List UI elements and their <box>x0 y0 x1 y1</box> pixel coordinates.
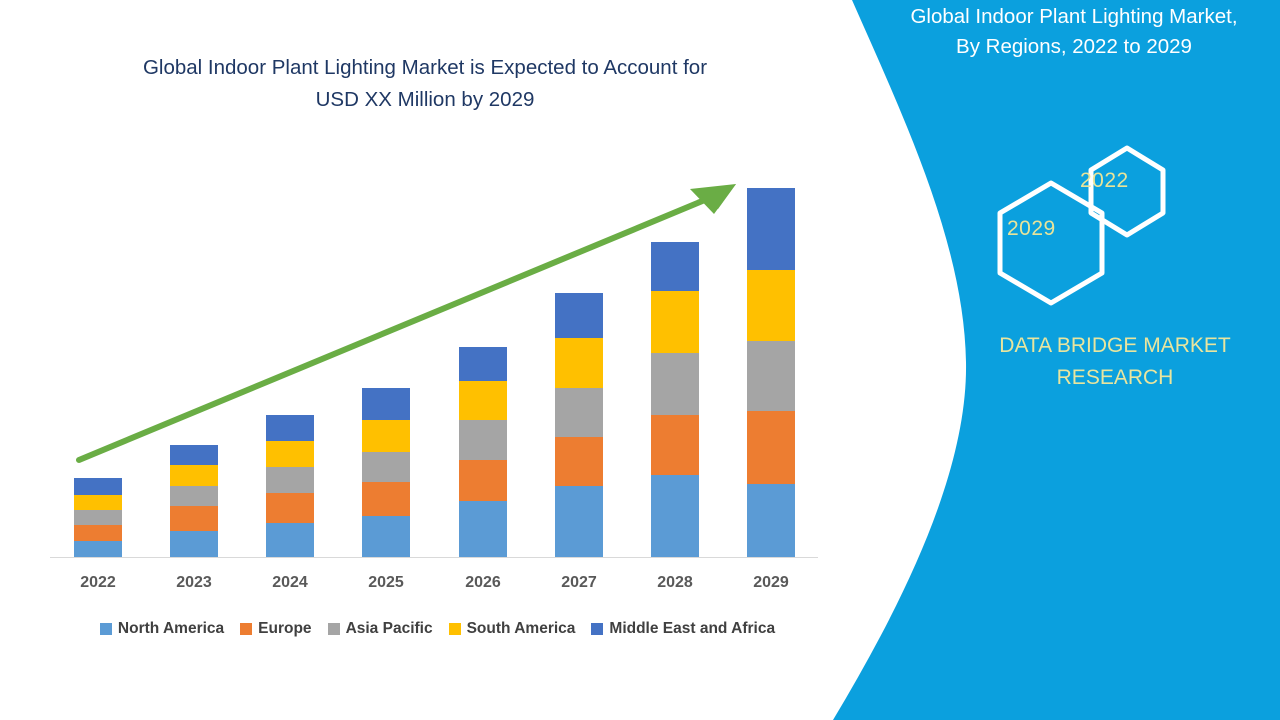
bar-segment-asia-pacific-2027[interactable] <box>555 388 603 437</box>
hex-badges: 2022 2029 <box>985 145 1175 290</box>
legend-label: South America <box>467 620 576 638</box>
bar-segment-asia-pacific-2029[interactable] <box>747 341 795 410</box>
bar-segment-europe-2029[interactable] <box>747 411 795 484</box>
bar-2026[interactable] <box>459 347 507 557</box>
bar-2027[interactable] <box>555 293 603 557</box>
bar-segment-north-america-2024[interactable] <box>266 523 314 557</box>
bar-segment-south-america-2026[interactable] <box>459 381 507 420</box>
bar-2024[interactable] <box>266 415 314 558</box>
bar-segment-asia-pacific-2028[interactable] <box>651 353 699 415</box>
bar-segment-middle-east-and-africa-2027[interactable] <box>555 293 603 338</box>
x-axis-label-2025: 2025 <box>346 574 426 592</box>
legend-swatch-icon <box>449 623 461 635</box>
bar-2022[interactable] <box>74 478 122 557</box>
panel-title-line-1: Global Indoor Plant Lighting Market, <box>868 2 1280 32</box>
bar-segment-south-america-2025[interactable] <box>362 420 410 452</box>
bar-2025[interactable] <box>362 388 410 557</box>
x-axis-label-2028: 2028 <box>635 574 715 592</box>
brand-name-line-1: DATA BRIDGE MARKET <box>960 330 1270 362</box>
legend-item-europe[interactable]: Europe <box>240 620 311 638</box>
x-axis-label-2026: 2026 <box>443 574 523 592</box>
chart-legend: North AmericaEuropeAsia PacificSouth Ame… <box>50 617 825 641</box>
bar-segment-north-america-2023[interactable] <box>170 531 218 557</box>
bar-segment-south-america-2029[interactable] <box>747 270 795 341</box>
bar-segment-north-america-2025[interactable] <box>362 516 410 557</box>
bar-segment-south-america-2028[interactable] <box>651 291 699 353</box>
bar-segment-north-america-2026[interactable] <box>459 501 507 557</box>
bar-2023[interactable] <box>170 445 218 558</box>
bar-segment-middle-east-and-africa-2022[interactable] <box>74 478 122 495</box>
legend-item-south-america[interactable]: South America <box>449 620 576 638</box>
brand-name-line-2: RESEARCH <box>960 362 1270 394</box>
hex-badge-2022-label: 2022 <box>1080 169 1129 193</box>
bar-segment-north-america-2027[interactable] <box>555 486 603 557</box>
legend-swatch-icon <box>328 623 340 635</box>
bar-segment-south-america-2027[interactable] <box>555 338 603 389</box>
bar-segment-europe-2027[interactable] <box>555 437 603 486</box>
legend-swatch-icon <box>240 623 252 635</box>
infographic-canvas: Global Indoor Plant Lighting Market is E… <box>0 0 1280 720</box>
x-axis-label-2022: 2022 <box>58 574 138 592</box>
hex-badge-2029-label: 2029 <box>1007 217 1056 241</box>
bar-segment-europe-2024[interactable] <box>266 493 314 523</box>
legend-item-asia-pacific[interactable]: Asia Pacific <box>328 620 433 638</box>
x-axis-line <box>50 557 818 558</box>
x-axis-label-2023: 2023 <box>154 574 234 592</box>
legend-label: Europe <box>258 620 311 638</box>
bar-segment-middle-east-and-africa-2024[interactable] <box>266 415 314 441</box>
bar-segment-south-america-2022[interactable] <box>74 495 122 510</box>
growth-arrow-icon <box>0 0 840 600</box>
x-axis-label-2024: 2024 <box>250 574 330 592</box>
legend-label: Middle East and Africa <box>609 620 775 638</box>
legend-item-middle-east-and-africa[interactable]: Middle East and Africa <box>591 620 775 638</box>
bar-segment-europe-2025[interactable] <box>362 482 410 516</box>
bar-segment-south-america-2023[interactable] <box>170 465 218 486</box>
bar-segment-europe-2023[interactable] <box>170 506 218 530</box>
bar-segment-asia-pacific-2023[interactable] <box>170 486 218 507</box>
bar-segment-europe-2026[interactable] <box>459 460 507 501</box>
legend-item-north-america[interactable]: North America <box>100 620 224 638</box>
bar-segment-middle-east-and-africa-2026[interactable] <box>459 347 507 381</box>
bar-segment-europe-2022[interactable] <box>74 525 122 541</box>
x-axis-label-2029: 2029 <box>731 574 811 592</box>
x-axis-labels: 20222023202420252026202720282029 <box>0 574 840 600</box>
bar-segment-north-america-2029[interactable] <box>747 484 795 557</box>
bar-segment-north-america-2028[interactable] <box>651 475 699 558</box>
bar-segment-europe-2028[interactable] <box>651 415 699 475</box>
bar-segment-south-america-2024[interactable] <box>266 441 314 467</box>
legend-label: North America <box>118 620 224 638</box>
bar-2028[interactable] <box>651 242 699 557</box>
legend-label: Asia Pacific <box>346 620 433 638</box>
bar-2029[interactable] <box>747 188 795 557</box>
bar-segment-middle-east-and-africa-2023[interactable] <box>170 445 218 466</box>
stacked-bar-chart <box>0 0 840 600</box>
bar-segment-asia-pacific-2024[interactable] <box>266 467 314 493</box>
bar-segment-asia-pacific-2026[interactable] <box>459 420 507 459</box>
legend-swatch-icon <box>591 623 603 635</box>
brand-name: DATA BRIDGE MARKET RESEARCH <box>960 330 1270 394</box>
x-axis-label-2027: 2027 <box>539 574 619 592</box>
bar-segment-asia-pacific-2025[interactable] <box>362 452 410 482</box>
bar-segment-middle-east-and-africa-2028[interactable] <box>651 242 699 291</box>
bar-segment-north-america-2022[interactable] <box>74 541 122 557</box>
bar-segment-middle-east-and-africa-2029[interactable] <box>747 188 795 271</box>
panel-title: Global Indoor Plant Lighting Market, By … <box>868 2 1280 62</box>
legend-swatch-icon <box>100 623 112 635</box>
panel-title-line-2: By Regions, 2022 to 2029 <box>868 32 1280 62</box>
bar-segment-middle-east-and-africa-2025[interactable] <box>362 388 410 420</box>
bar-segment-asia-pacific-2022[interactable] <box>74 510 122 525</box>
